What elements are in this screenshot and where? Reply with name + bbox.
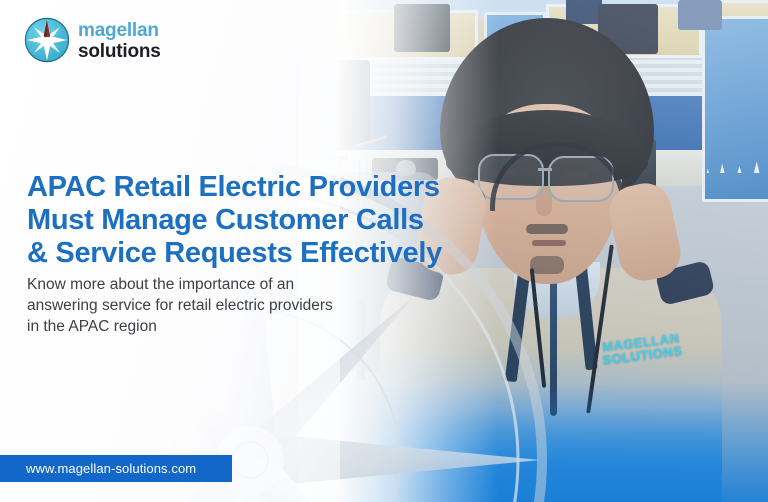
marketing-banner: MAGELLAN SOLUTIONS [0,0,768,502]
headline: APAC Retail Electric Providers Must Mana… [27,171,507,270]
logo-text-solutions: solutions [78,42,161,61]
logo-wordmark: magellan solutions [78,20,161,61]
headline-line-2: Must Manage Customer Calls [27,204,507,237]
subheadline-line-2: answering service for retail electric pr… [27,295,447,316]
subheadline-line-1: Know more about the importance of an [27,274,447,295]
subheadline-line-3: in the APAC region [27,316,447,337]
compass-rose-logo-icon [24,17,70,63]
headline-line-3: & Service Requests Effectively [27,237,507,270]
website-url-text: www.magellan-solutions.com [0,461,196,476]
logo-text-magellan: magellan [78,21,161,40]
subheadline: Know more about the importance of an ans… [27,274,447,337]
website-url-bar[interactable]: www.magellan-solutions.com [0,455,232,482]
magellan-solutions-logo[interactable]: magellan solutions [24,17,161,63]
headline-line-1: APAC Retail Electric Providers [27,171,507,204]
